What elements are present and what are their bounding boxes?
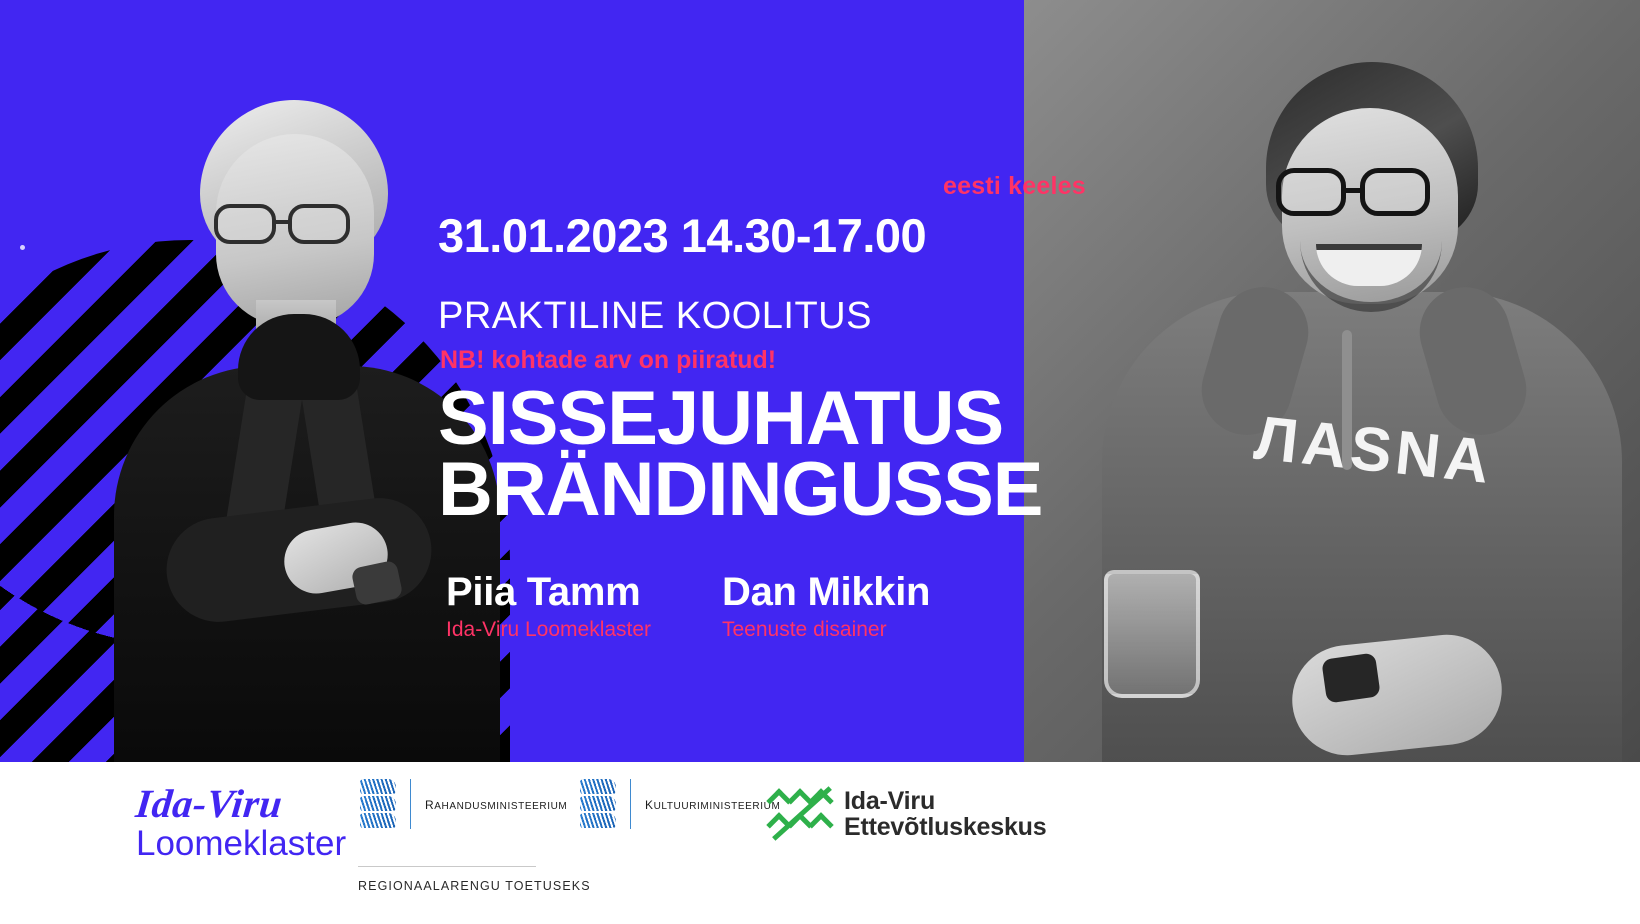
- language-badge: eesti keeles: [943, 172, 1086, 201]
- portrait-left-eyeglass-left: [214, 204, 276, 244]
- sponsor-footer: Ida-Viru Loomeklaster Rahandusministeeri…: [0, 762, 1640, 924]
- lion-glyph: [580, 813, 616, 828]
- event-date-time: 31.01.2023 14.30-17.00: [438, 208, 926, 263]
- limited-seats-note: NB! kohtade arv on piiratud!: [440, 346, 776, 375]
- ministry-row: Kultuuriministeerium: [578, 778, 780, 830]
- event-headline-line-1: SISSEJUHATUS: [438, 384, 1043, 455]
- speck-decoration: [20, 245, 25, 250]
- event-promo-banner: ЛАSNA eesti keeles 31.01.2023 14.30-17.0…: [0, 0, 1640, 924]
- ministry-caption-rule: [358, 866, 536, 867]
- speaker-name: Dan Mikkin: [722, 570, 930, 615]
- lion-glyph: [360, 813, 396, 828]
- event-headline: SISSEJUHATUS BRÄNDINGUSSE: [438, 384, 1043, 525]
- speaker-item: Dan Mikkin Teenuste disainer: [722, 570, 930, 642]
- lion-glyph: [360, 779, 396, 794]
- logo-divider-rule: [410, 779, 411, 829]
- ettevotluskeskus-line-1: Ida-Viru: [844, 788, 1046, 814]
- speaker-role: Teenuste disainer: [722, 618, 930, 642]
- loomeklaster-logo-line-2: Loomeklaster: [136, 826, 336, 863]
- green-arrows-icon: [768, 788, 832, 840]
- event-headline-line-2: BRÄNDINGUSSE: [438, 455, 1043, 526]
- event-type-label: PRAKTILINE KOOLITUS: [438, 295, 872, 338]
- speaker-item: Piia Tamm Ida-Viru Loomeklaster: [446, 570, 651, 642]
- ministry-name: Kultuuriministeerium: [645, 794, 780, 814]
- portrait-left-eyeglass-right: [288, 204, 350, 244]
- portrait-left-turtleneck: [238, 314, 360, 400]
- portrait-dan-mikkin: ЛАSNA: [1024, 0, 1640, 762]
- logo-divider-rule: [630, 779, 631, 829]
- portrait-right-drinking-glass: [1104, 570, 1200, 698]
- logo-kultuuriministeerium: Kultuuriministeerium: [578, 778, 780, 830]
- portrait-right-eyeglass-bridge: [1346, 188, 1360, 193]
- ministry-row: Rahandusministeerium: [358, 778, 567, 830]
- portrait-right-wristwatch: [1321, 652, 1381, 703]
- portrait-right-eyeglass-left: [1276, 168, 1346, 216]
- speaker-name: Piia Tamm: [446, 570, 651, 615]
- ministry-caption: REGIONAALARENGU TOETUSEKS: [358, 879, 591, 893]
- speaker-role: Ida-Viru Loomeklaster: [446, 618, 651, 642]
- portrait-right-eyeglass-right: [1360, 168, 1430, 216]
- lion-glyph: [580, 796, 616, 811]
- lion-glyph: [360, 796, 396, 811]
- logo-ida-viru-ettevotluskeskus: Ida-Viru Ettevõtluskeskus: [768, 788, 1046, 840]
- estonian-coat-of-arms-icon: [578, 778, 618, 830]
- arrow-glyph: [808, 812, 833, 837]
- loomeklaster-logo-line-1: Ida-Viru: [134, 784, 338, 824]
- logo-rahandusministeerium: Rahandusministeerium: [358, 778, 567, 830]
- ministry-name: Rahandusministeerium: [425, 794, 567, 814]
- portrait-left-eyeglass-bridge: [276, 220, 290, 224]
- hero-text-content: eesti keeles 31.01.2023 14.30-17.00 PRAK…: [438, 0, 1058, 762]
- hero-background: ЛАSNA eesti keeles 31.01.2023 14.30-17.0…: [0, 0, 1640, 762]
- lion-glyph: [580, 779, 616, 794]
- ettevotluskeskus-line-2: Ettevõtluskeskus: [844, 814, 1046, 840]
- ettevotluskeskus-text: Ida-Viru Ettevõtluskeskus: [844, 788, 1046, 840]
- logo-ida-viru-loomeklaster: Ida-Viru Loomeklaster: [136, 784, 336, 863]
- estonian-coat-of-arms-icon: [358, 778, 398, 830]
